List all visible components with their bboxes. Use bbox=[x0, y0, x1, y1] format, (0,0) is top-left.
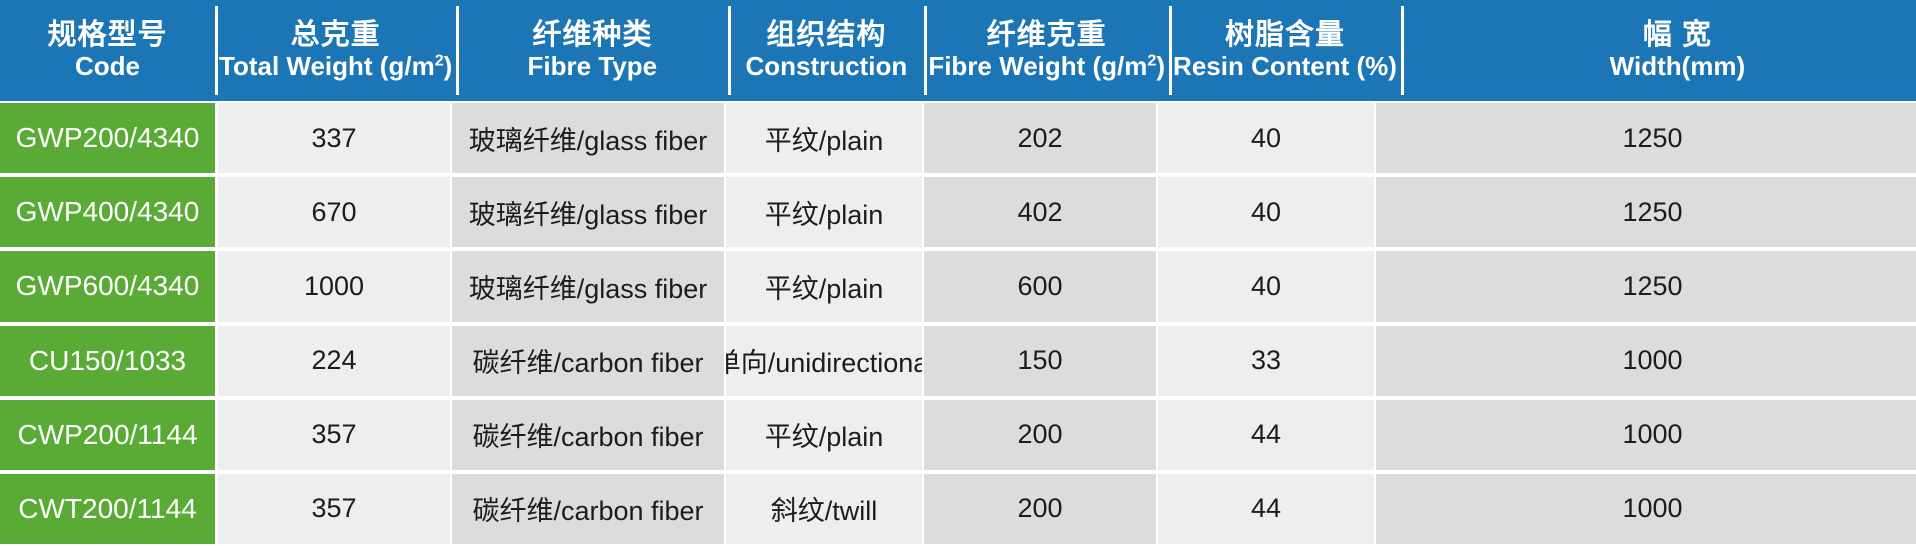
cell-fibre-type: 玻璃纤维/glass fiber bbox=[452, 251, 724, 321]
cell-resin-content: 40 bbox=[1158, 251, 1374, 321]
table-row: CWP200/1144357碳纤维/carbon fiber平纹/plain20… bbox=[0, 398, 1916, 472]
cell-fibre-weight: 402 bbox=[924, 177, 1156, 247]
column-header-width: 幅 宽 Width(mm) bbox=[1401, 0, 1916, 101]
cell-total-weight: 1000 bbox=[218, 251, 450, 321]
column-header-construction-en: Construction bbox=[745, 52, 907, 82]
cell-total-weight: 337 bbox=[218, 103, 450, 173]
column-header-fibre-weight-cn: 纤维克重 bbox=[987, 19, 1107, 51]
cell-fibre-type: 碳纤维/carbon fiber bbox=[452, 326, 724, 396]
cell-resin-content: 33 bbox=[1158, 326, 1374, 396]
cell-total-weight: 670 bbox=[218, 177, 450, 247]
table-row: CU150/1033224碳纤维/carbon fiber单向/unidirec… bbox=[0, 324, 1916, 398]
cell-construction: 单向/unidirectional bbox=[726, 326, 922, 396]
table-header-row: 规格型号 Code 总克重 Total Weight (g/m2) 纤维种类 F… bbox=[0, 0, 1916, 101]
column-header-construction-cn: 组织结构 bbox=[766, 19, 886, 51]
table-row: GWP600/43401000玻璃纤维/glass fiber平纹/plain6… bbox=[0, 249, 1916, 323]
column-header-fibre-type-cn: 纤维种类 bbox=[532, 19, 652, 51]
cell-resin-content: 44 bbox=[1158, 400, 1374, 470]
cell-resin-content: 44 bbox=[1158, 474, 1374, 544]
cell-fibre-weight: 200 bbox=[924, 400, 1156, 470]
table-row: GWP400/4340670玻璃纤维/glass fiber平纹/plain40… bbox=[0, 175, 1916, 249]
cell-code: GWP200/4340 bbox=[0, 103, 215, 173]
column-header-code-cn: 规格型号 bbox=[47, 19, 167, 51]
table-row: CWT200/1144357碳纤维/carbon fiber斜纹/twill20… bbox=[0, 472, 1916, 546]
cell-total-weight: 224 bbox=[218, 326, 450, 396]
cell-code: CU150/1033 bbox=[0, 326, 215, 396]
total-weight-en-sup: 2 bbox=[435, 51, 444, 69]
cell-construction: 平纹/plain bbox=[726, 103, 922, 173]
cell-fibre-weight: 200 bbox=[924, 474, 1156, 544]
fibre-weight-en-tail: ) bbox=[1156, 51, 1165, 81]
column-header-fibre-type-en: Fibre Type bbox=[528, 52, 658, 82]
cell-resin-content: 40 bbox=[1158, 103, 1374, 173]
column-header-fibre-weight: 纤维克重 Fibre Weight (g/m2) bbox=[924, 0, 1169, 101]
cell-fibre-type: 碳纤维/carbon fiber bbox=[452, 400, 724, 470]
cell-construction: 平纹/plain bbox=[726, 251, 922, 321]
cell-width: 1000 bbox=[1376, 474, 1916, 544]
cell-resin-content: 40 bbox=[1158, 177, 1374, 247]
column-header-construction: 组织结构 Construction bbox=[728, 0, 924, 101]
cell-width: 1000 bbox=[1376, 400, 1916, 470]
cell-fibre-type: 玻璃纤维/glass fiber bbox=[452, 177, 724, 247]
column-header-fibre-type: 纤维种类 Fibre Type bbox=[456, 0, 728, 101]
cell-width: 1250 bbox=[1376, 103, 1916, 173]
cell-code: CWP200/1144 bbox=[0, 400, 215, 470]
cell-code: GWP400/4340 bbox=[0, 177, 215, 247]
cell-code: CWT200/1144 bbox=[0, 474, 215, 544]
column-header-total-weight-en: Total Weight (g/m2) bbox=[219, 52, 452, 82]
column-header-resin-content: 树脂含量 Resin Content (%) bbox=[1169, 0, 1401, 101]
column-header-resin-content-en: Resin Content (%) bbox=[1173, 52, 1397, 82]
cell-fibre-weight: 150 bbox=[924, 326, 1156, 396]
cell-construction: 斜纹/twill bbox=[726, 474, 922, 544]
table-body: GWP200/4340337玻璃纤维/glass fiber平纹/plain20… bbox=[0, 101, 1916, 546]
cell-fibre-type: 玻璃纤维/glass fiber bbox=[452, 103, 724, 173]
column-header-resin-content-cn: 树脂含量 bbox=[1225, 19, 1345, 51]
column-header-code-en: Code bbox=[75, 52, 140, 82]
cell-total-weight: 357 bbox=[218, 400, 450, 470]
column-header-width-cn: 幅 宽 bbox=[1643, 19, 1712, 51]
cell-fibre-weight: 202 bbox=[924, 103, 1156, 173]
column-header-total-weight: 总克重 Total Weight (g/m2) bbox=[215, 0, 456, 101]
total-weight-en-base: Total Weight (g/m bbox=[219, 51, 435, 81]
product-spec-table: 规格型号 Code 总克重 Total Weight (g/m2) 纤维种类 F… bbox=[0, 0, 1916, 546]
table-row: GWP200/4340337玻璃纤维/glass fiber平纹/plain20… bbox=[0, 101, 1916, 175]
column-header-fibre-weight-en: Fibre Weight (g/m2) bbox=[928, 52, 1165, 82]
column-header-code: 规格型号 Code bbox=[0, 0, 215, 101]
cell-construction: 平纹/plain bbox=[726, 400, 922, 470]
cell-construction: 平纹/plain bbox=[726, 177, 922, 247]
cell-fibre-weight: 600 bbox=[924, 251, 1156, 321]
cell-fibre-type: 碳纤维/carbon fiber bbox=[452, 474, 724, 544]
cell-width: 1250 bbox=[1376, 177, 1916, 247]
cell-total-weight: 357 bbox=[218, 474, 450, 544]
cell-code: GWP600/4340 bbox=[0, 251, 215, 321]
column-header-total-weight-cn: 总克重 bbox=[291, 19, 381, 51]
cell-width: 1250 bbox=[1376, 251, 1916, 321]
fibre-weight-en-base: Fibre Weight (g/m bbox=[928, 51, 1147, 81]
total-weight-en-tail: ) bbox=[444, 51, 453, 81]
cell-width: 1000 bbox=[1376, 326, 1916, 396]
column-header-width-en: Width(mm) bbox=[1610, 52, 1746, 82]
